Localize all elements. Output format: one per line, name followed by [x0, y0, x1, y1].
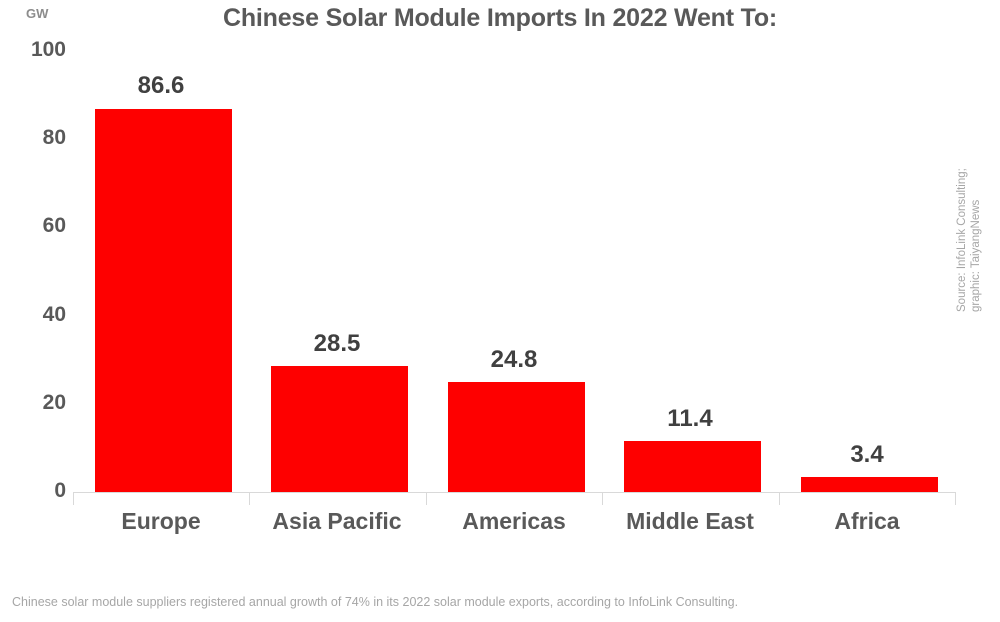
bar-value-label: 24.8 [426, 346, 602, 374]
bar-americas[interactable] [448, 382, 585, 492]
bar-group-europe[interactable]: 86.6 [73, 50, 249, 492]
bar-asia-pacific[interactable] [271, 366, 408, 492]
bar-value-label: 28.5 [249, 330, 425, 358]
y-axis-tick-label: 60 [8, 214, 66, 238]
x-axis-line [73, 492, 956, 493]
bar-middle-east[interactable] [624, 441, 761, 492]
y-axis-tick-label: 20 [8, 391, 66, 415]
bar-africa[interactable] [801, 477, 938, 492]
plot-area: 86.6 28.5 24.8 11.4 3.4 [73, 50, 955, 492]
footer-caption: Chinese solar module suppliers registere… [12, 595, 987, 609]
x-axis-tick-mark [426, 493, 427, 505]
x-axis-tick-mark [602, 493, 603, 505]
x-axis-tick-mark [779, 493, 780, 505]
bar-europe[interactable] [95, 109, 232, 492]
x-axis-label-americas: Americas [426, 508, 602, 535]
bar-group-americas[interactable]: 24.8 [426, 50, 602, 492]
chart-title: Chinese Solar Module Imports In 2022 Wen… [85, 4, 915, 33]
x-axis-tick-mark [73, 493, 74, 505]
bar-value-label: 3.4 [779, 441, 955, 469]
source-line-2: graphic: TaiyangNews [969, 142, 983, 312]
chart-page: Chinese Solar Module Imports In 2022 Wen… [0, 0, 1000, 622]
bar-group-middle-east[interactable]: 11.4 [602, 50, 778, 492]
y-axis: 100 80 60 40 20 0 [0, 0, 66, 622]
x-axis-label-europe: Europe [73, 508, 249, 535]
y-axis-tick-label: 40 [8, 303, 66, 327]
x-axis-tick-mark [249, 493, 250, 505]
bar-value-label: 11.4 [602, 405, 778, 433]
y-axis-tick-label: 80 [8, 126, 66, 150]
y-axis-tick-label: 100 [8, 38, 66, 62]
source-line-1: Source: InfoLink Consulting; [955, 142, 969, 312]
x-axis-label-asia-pacific: Asia Pacific [249, 508, 425, 535]
x-axis-tick-mark [955, 493, 956, 505]
x-axis-label-africa: Africa [779, 508, 955, 535]
bar-group-africa[interactable]: 3.4 [779, 50, 955, 492]
y-axis-tick-label: 0 [8, 479, 66, 503]
bar-group-asia-pacific[interactable]: 28.5 [249, 50, 425, 492]
source-attribution: Source: InfoLink Consulting; graphic: Ta… [955, 142, 983, 312]
bar-value-label: 86.6 [73, 72, 249, 100]
x-axis-label-middle-east: Middle East [602, 508, 778, 535]
